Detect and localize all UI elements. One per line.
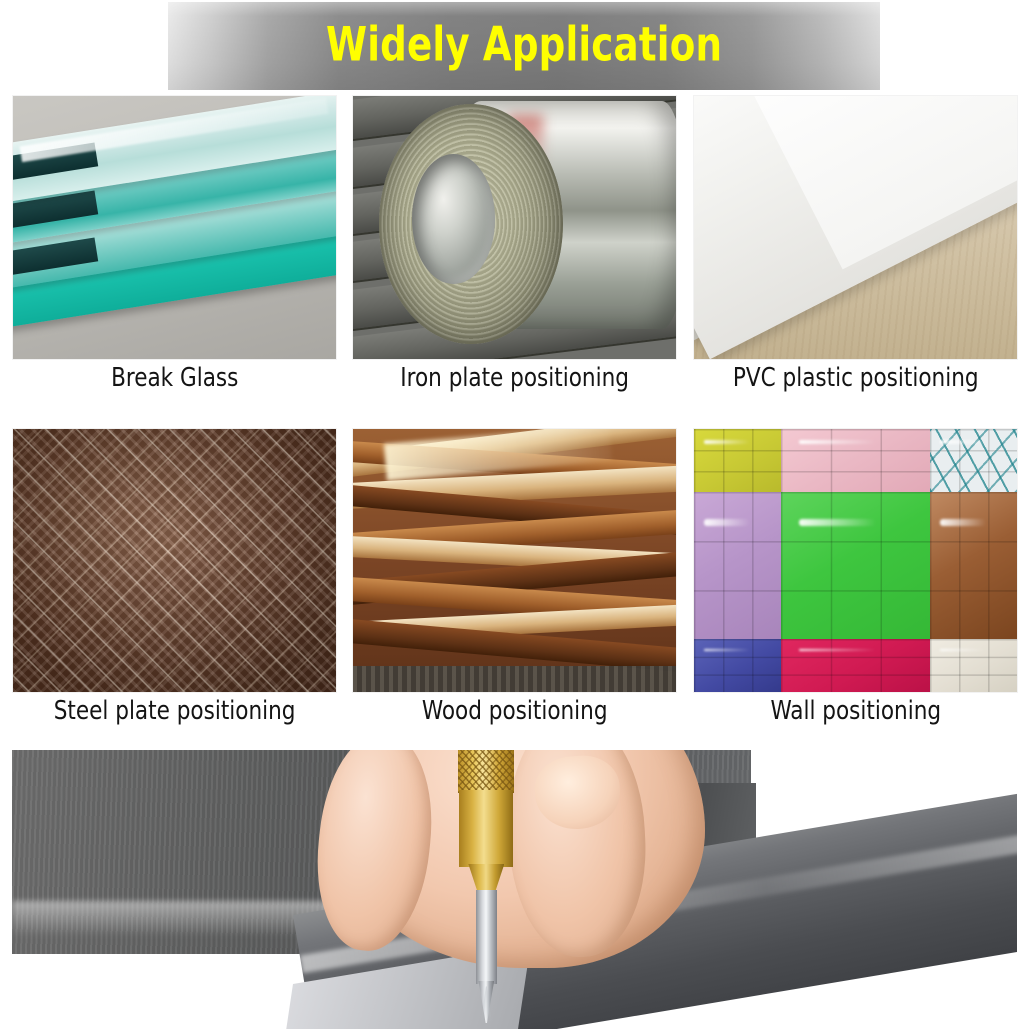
application-grid: Break Glass Iron plate positioning xyxy=(0,92,1029,750)
application-label: Break Glass xyxy=(12,363,337,395)
punch-brass-body xyxy=(459,790,513,867)
punch-knurled-grip xyxy=(458,750,514,793)
diamond-checker-steel-plate-image xyxy=(12,428,337,693)
galvanized-steel-coil-image xyxy=(352,95,677,360)
application-label: Wood positioning xyxy=(352,696,677,728)
punch-taper xyxy=(468,864,504,892)
application-label: Wall positioning xyxy=(693,696,1018,728)
stacked-lumber-planks-image xyxy=(352,428,677,693)
header-banner: Widely Application xyxy=(0,0,1029,92)
application-label: Steel plate positioning xyxy=(12,696,337,728)
header-gradient-plate: Widely Application xyxy=(168,2,880,90)
application-label: PVC plastic positioning xyxy=(693,363,1018,395)
center-punch-tool xyxy=(458,750,514,1026)
stacked-float-glass-panels-image xyxy=(12,95,337,360)
application-label: Iron plate positioning xyxy=(352,363,677,395)
center-punch-in-use-image xyxy=(12,750,1017,1029)
mosaic-wall-tiles-image xyxy=(693,428,1018,693)
page-title: Widely Application xyxy=(168,22,880,69)
punch-steel-shaft xyxy=(476,890,497,984)
pvc-foam-sheets-image xyxy=(693,95,1018,360)
